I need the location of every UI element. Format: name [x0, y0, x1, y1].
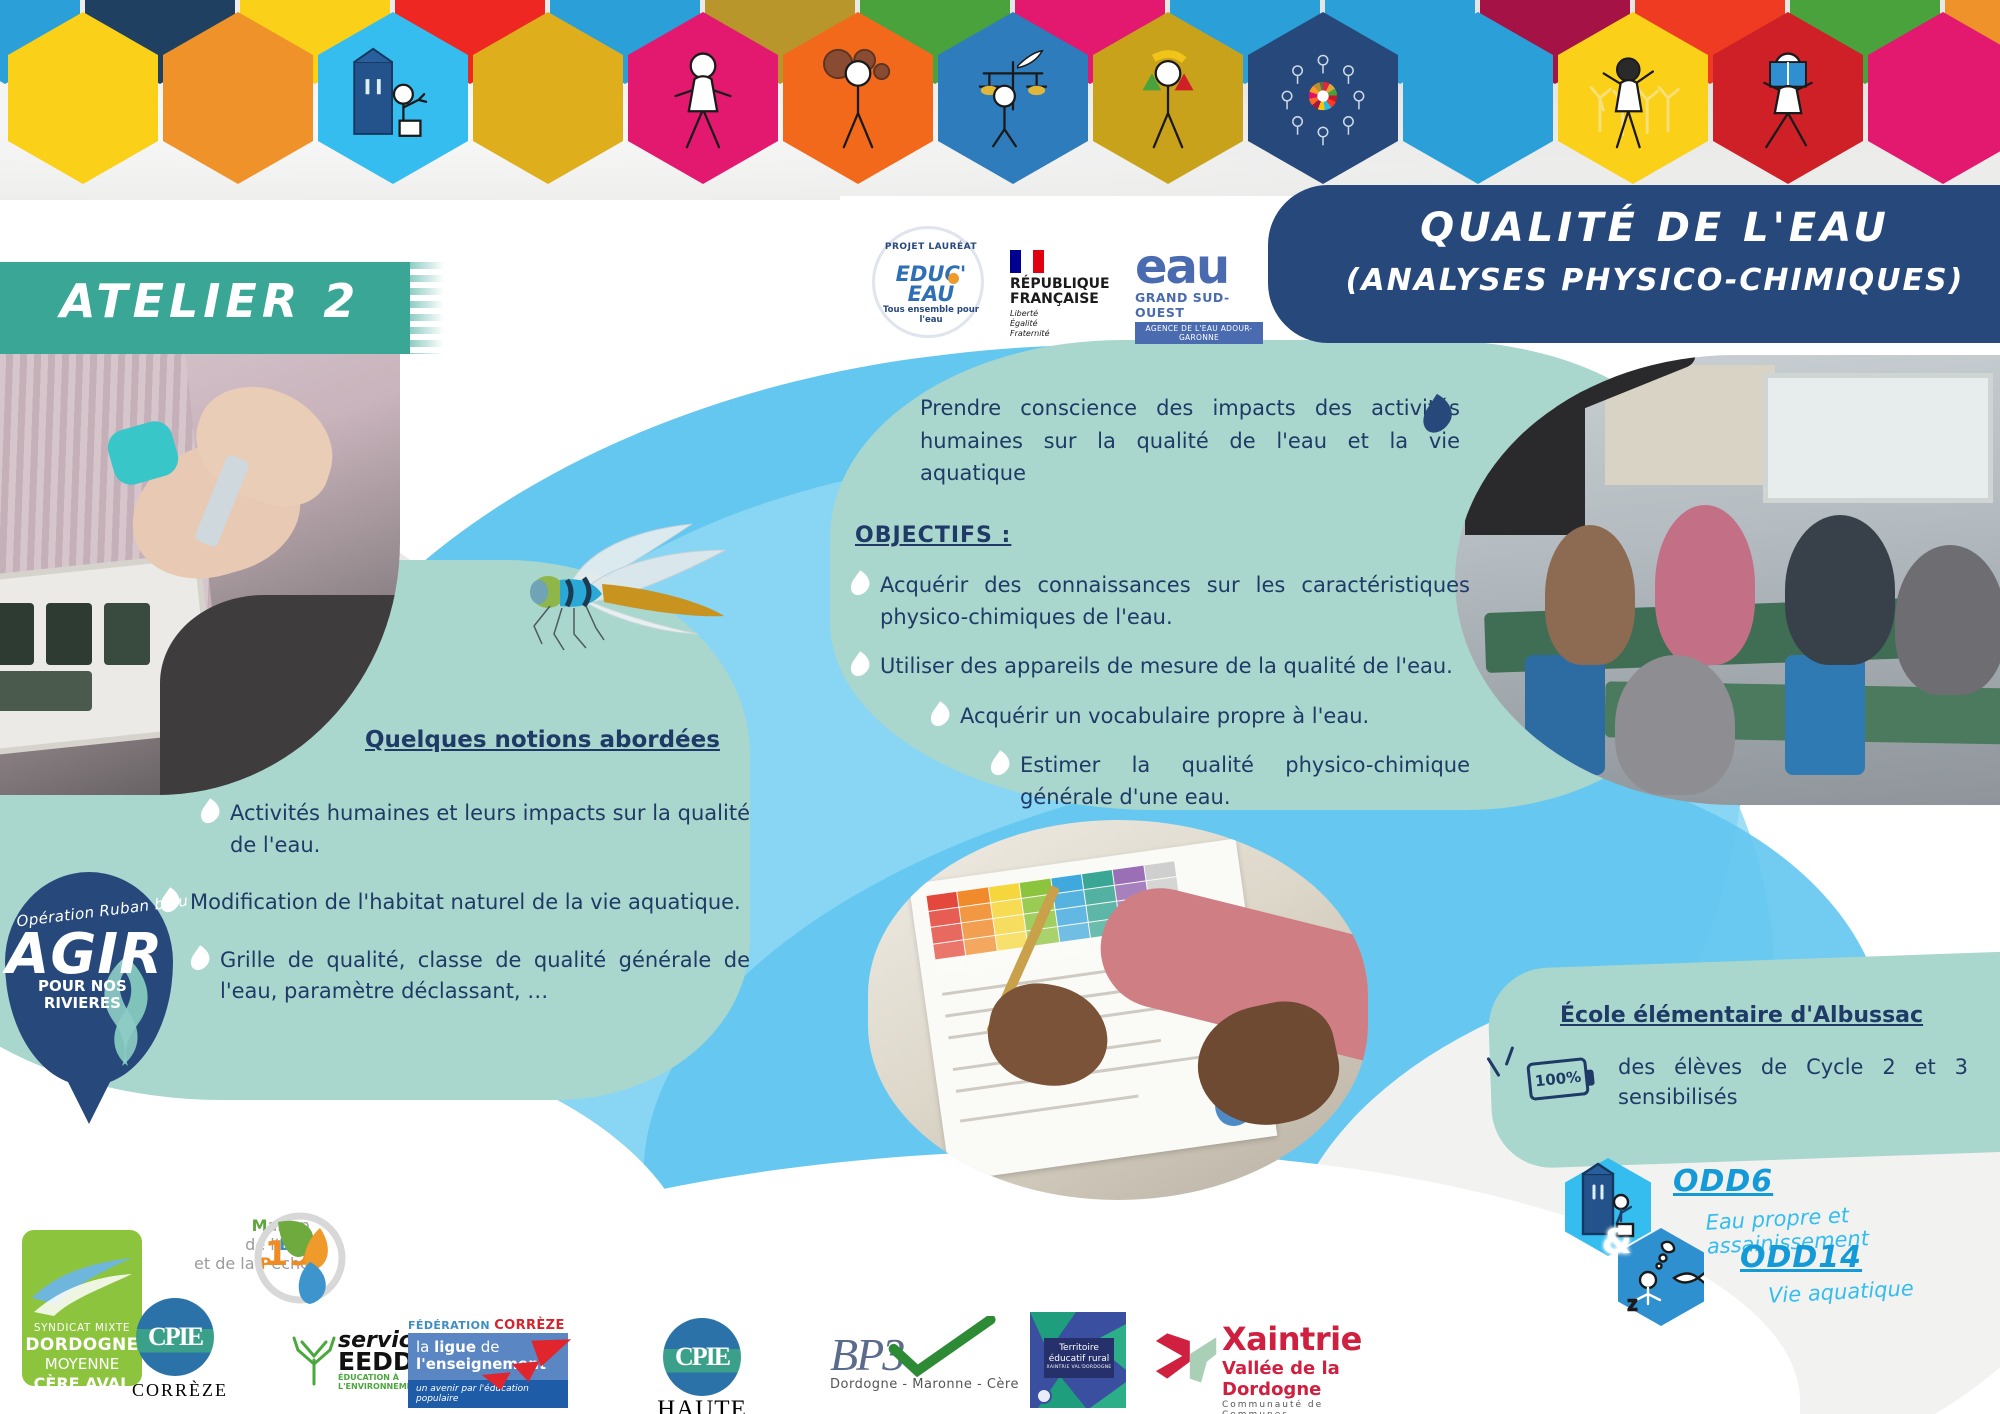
- agence-eau-region: GRAND SUD-OUEST: [1135, 290, 1263, 320]
- agir-sub-line2: RIVIERES: [44, 994, 121, 1012]
- territoire-lines: Territoire éducatif rural: [1044, 1343, 1114, 1365]
- grid-cell: [936, 956, 968, 975]
- republique-line2: FRANÇAISE: [1010, 291, 1099, 307]
- logo-republique-francaise: RÉPUBLIQUE FRANÇAISE Liberté Égalité Fra…: [1010, 250, 1120, 339]
- syndicat-line4: CÈRE AVAL: [22, 1374, 142, 1393]
- list-item: Estimer la qualité physico-chimique géné…: [1020, 750, 1470, 813]
- objectives-list: Acquérir des connaissances sur les carac…: [850, 570, 1470, 831]
- logo-cpie-haute-auvergne: CPIE HAUTE AUVERGNE Artisans du changeme…: [592, 1318, 812, 1414]
- list-item: Grille de qualité, classe de qualité gén…: [220, 945, 750, 1008]
- territoire-line2: éducatif rural: [1049, 1354, 1110, 1364]
- logo-xaintrie: Xaintrie Vallée de la Dordogne Communaut…: [1160, 1320, 1390, 1414]
- photo-quality-grid: [868, 820, 1368, 1200]
- logo-cpie-correze: CPIE CORRÈZE: [132, 1298, 218, 1401]
- cpie-ha-mark-text: CPIE: [663, 1318, 741, 1396]
- territoire-label-box: Territoire éducatif rural XAINTRIE VAL'D…: [1044, 1338, 1114, 1378]
- page-title: QUALITÉ DE L'EAU: [1300, 205, 2000, 251]
- list-item: Acquérir des connaissances sur les carac…: [880, 570, 1470, 633]
- list-item: Modification de l'habitat naturel de la …: [190, 887, 750, 919]
- grid-cell: [967, 952, 999, 971]
- school-heading: École élémentaire d'Albussac: [1560, 1003, 1923, 1028]
- cpie-mark-icon: CPIE: [136, 1298, 214, 1376]
- devise-line1: Liberté: [1010, 309, 1038, 318]
- agence-eau-wordmark: eau: [1135, 248, 1263, 286]
- photo-classroom: [1455, 355, 2000, 805]
- battery-100-icon: 100%: [1526, 1057, 1590, 1101]
- xaintrie-name: Xaintrie: [1222, 1320, 1390, 1358]
- logo-syndicat-mixte: SYNDICAT MIXTE DORDOGNE MOYENNE CÈRE AVA…: [22, 1230, 142, 1386]
- hexagon-header-band: [0, 0, 2000, 200]
- educ-eau-line2: EAU: [908, 282, 955, 306]
- list-item: Utiliser des appareils de mesure de la q…: [880, 651, 1470, 683]
- syndicat-line3: MOYENNE: [22, 1355, 142, 1373]
- river-wave-icon: [30, 1240, 134, 1320]
- list-item: Activités humaines et leurs impacts sur …: [230, 798, 750, 861]
- syndicat-line1: SYNDICAT MIXTE: [22, 1322, 142, 1334]
- devise-line3: Fraternité: [1010, 329, 1050, 338]
- devise-line2: Égalité: [1010, 319, 1038, 328]
- logo-territoire-educatif-rural: Territoire éducatif rural XAINTRIE VAL'D…: [1030, 1312, 1126, 1408]
- droplet-bullet-icon: [987, 750, 1014, 779]
- territoire-line1: Territoire: [1059, 1343, 1099, 1353]
- list-item-text: Acquérir des connaissances sur les carac…: [880, 573, 1470, 629]
- partner-logos-row: SYNDICAT MIXTE DORDOGNE MOYENNE CÈRE AVA…: [0, 1190, 2000, 1414]
- agir-sub-line1: POUR NOS: [38, 977, 127, 995]
- logo-educ-eau: PROJET LAURÉAT EDUC' EAU Tous ensemble p…: [872, 226, 984, 338]
- haute-auvergne-name: HAUTE AUVERGNE: [592, 1396, 812, 1414]
- atelier-label: ATELIER 2: [60, 274, 360, 328]
- territoire-seal-icon: [1036, 1388, 1052, 1404]
- droplet-accent-icon: [948, 273, 959, 284]
- list-item: Acquérir un vocabulaire propre à l'eau.: [960, 701, 1470, 733]
- swirl-leaf-icon: [248, 1206, 353, 1311]
- list-item-text: Grille de qualité, classe de qualité gén…: [220, 948, 750, 1004]
- territoire-line3: XAINTRIE VAL'DORDOGNE: [1044, 1365, 1114, 1370]
- eedd-acronym: EEDD: [338, 1347, 414, 1376]
- xaintrie-sub: Communauté de Communes: [1222, 1400, 1390, 1414]
- french-flag-icon: [1010, 250, 1044, 273]
- agence-eau-band: AGENCE DE L'EAU ADOUR-GARONNE: [1135, 322, 1263, 344]
- tree-icon: [290, 1330, 338, 1386]
- republique-devise: Liberté Égalité Fraternité: [1010, 309, 1120, 339]
- syndicat-line2: DORDOGNE: [22, 1335, 142, 1355]
- list-item-text: Estimer la qualité physico-chimique géné…: [1020, 753, 1470, 809]
- list-item-text: Activités humaines et leurs impacts sur …: [230, 801, 750, 857]
- grid-cell: [1060, 939, 1092, 958]
- droplet-bullet-icon: [187, 945, 214, 974]
- logo-ligue-enseignement: FÉDÉRATION CORRÈZE la ligue de l'enseign…: [408, 1318, 568, 1408]
- poster-canvas: ATELIER 2 PROJET LAURÉAT EDUC' EAU Tous …: [0, 0, 2000, 1414]
- xaintrie-valley: Vallée de la Dordogne: [1222, 1358, 1390, 1400]
- page-subtitle: (ANALYSES PHYSICO-CHIMIQUES): [1300, 263, 2000, 298]
- eedd-sub1: ÉDUCATION À: [338, 1373, 399, 1382]
- cpie-ha-mark-icon: CPIE: [663, 1318, 741, 1396]
- educ-eau-bottom-arc: Tous ensemble pour l'eau: [875, 305, 987, 325]
- droplet-bullet-icon: [927, 701, 954, 730]
- school-text: des élèves de Cycle 2 et 3 sensibilisés: [1618, 1052, 1968, 1113]
- logo-agence-eau: eau GRAND SUD-OUEST AGENCE DE L'EAU ADOU…: [1135, 248, 1263, 344]
- dragonfly-icon: [512, 522, 792, 672]
- notions-heading: Quelques notions abordées: [365, 727, 720, 753]
- logo-bp3: BP3 Dordogne - Maronne - Cère: [830, 1328, 1040, 1392]
- droplet-bullet-icon: [847, 570, 874, 599]
- objectives-intro: Prendre conscience des impacts des activ…: [920, 392, 1460, 490]
- red-arrows-icon: [468, 1326, 578, 1402]
- cpie-mark-text: CPIE: [136, 1298, 214, 1376]
- photo-water-test-kit: [0, 335, 400, 795]
- republique-name: RÉPUBLIQUE FRANÇAISE: [1010, 277, 1120, 306]
- educ-eau-wordmark: EDUC' EAU: [875, 265, 987, 305]
- list-item-text: Acquérir un vocabulaire propre à l'eau.: [960, 704, 1369, 728]
- list-item-text: Utiliser des appareils de mesure de la q…: [880, 654, 1453, 678]
- droplet-bullet-icon: [197, 798, 224, 827]
- droplet-bullet-icon: [847, 651, 874, 680]
- notions-list: Activités humaines et leurs impacts sur …: [190, 798, 750, 1034]
- list-item-text: Modification de l'habitat naturel de la …: [190, 890, 741, 914]
- cpie-correze-name: CORRÈZE: [132, 1380, 218, 1401]
- educ-eau-top-arc: PROJET LAURÉAT: [875, 242, 987, 252]
- xaintrie-cross-icon: [1154, 1324, 1220, 1390]
- green-check-icon: [888, 1316, 998, 1380]
- ligue-l1a: la: [416, 1338, 434, 1356]
- republique-line1: RÉPUBLIQUE: [1010, 276, 1110, 292]
- agir-sub: POUR NOS RIVIERES: [38, 978, 127, 1013]
- objectives-heading: OBJECTIFS :: [855, 523, 1011, 548]
